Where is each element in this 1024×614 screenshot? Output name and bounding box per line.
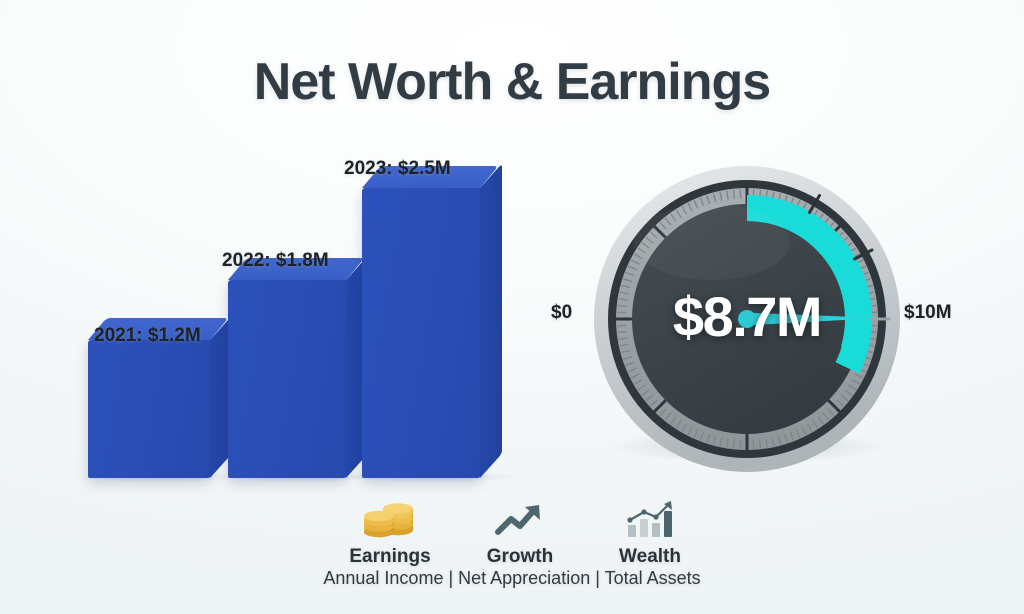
coin-stack-icon — [361, 498, 419, 542]
bar-front-face-2021 — [88, 340, 210, 478]
bar-side-face-2023 — [480, 164, 502, 478]
bar-2022[interactable] — [228, 280, 346, 478]
bar-label-2023: 2023: $2.5M — [344, 158, 451, 180]
coin-stack-left — [364, 511, 394, 537]
bar-label-2022: 2022: $1.8M — [222, 250, 329, 272]
legend-item-wealth[interactable]: Wealth — [590, 498, 710, 568]
bar-front-face-2022 — [228, 280, 346, 478]
gauge-min-label: $0 — [551, 302, 572, 324]
bar-label-2021: 2021: $1.2M — [94, 325, 201, 347]
legend-caption: Annual Income | Net Appreciation | Total… — [0, 568, 1024, 589]
legend-label-wealth: Wealth — [619, 546, 681, 568]
legend-item-growth[interactable]: Growth — [460, 498, 580, 568]
legend-label-growth: Growth — [487, 546, 554, 568]
gauge-value-label: $8.7M — [592, 284, 902, 349]
bar-front-face-2023 — [362, 188, 480, 478]
infographic-canvas: Net Worth & Earnings 2021: $1.2M 2022: $… — [0, 0, 1024, 614]
gauge-max-label: $10M — [904, 302, 952, 324]
legend: Earnings Growth — [330, 498, 710, 568]
net-worth-gauge[interactable]: $8.7M — [592, 164, 902, 474]
page-title: Net Worth & Earnings — [0, 52, 1024, 112]
bar-chart: 2021: $1.2M 2022: $1.8M 2023: $2.5M — [60, 140, 530, 500]
trend-arrow-up-icon — [494, 498, 546, 542]
bar-chart-trend-icon — [624, 498, 676, 542]
gauge-glass-highlight — [634, 204, 790, 280]
bar-2021[interactable] — [88, 340, 210, 478]
legend-item-earnings[interactable]: Earnings — [330, 498, 450, 568]
bar-2023[interactable] — [362, 188, 480, 478]
legend-label-earnings: Earnings — [349, 546, 430, 568]
